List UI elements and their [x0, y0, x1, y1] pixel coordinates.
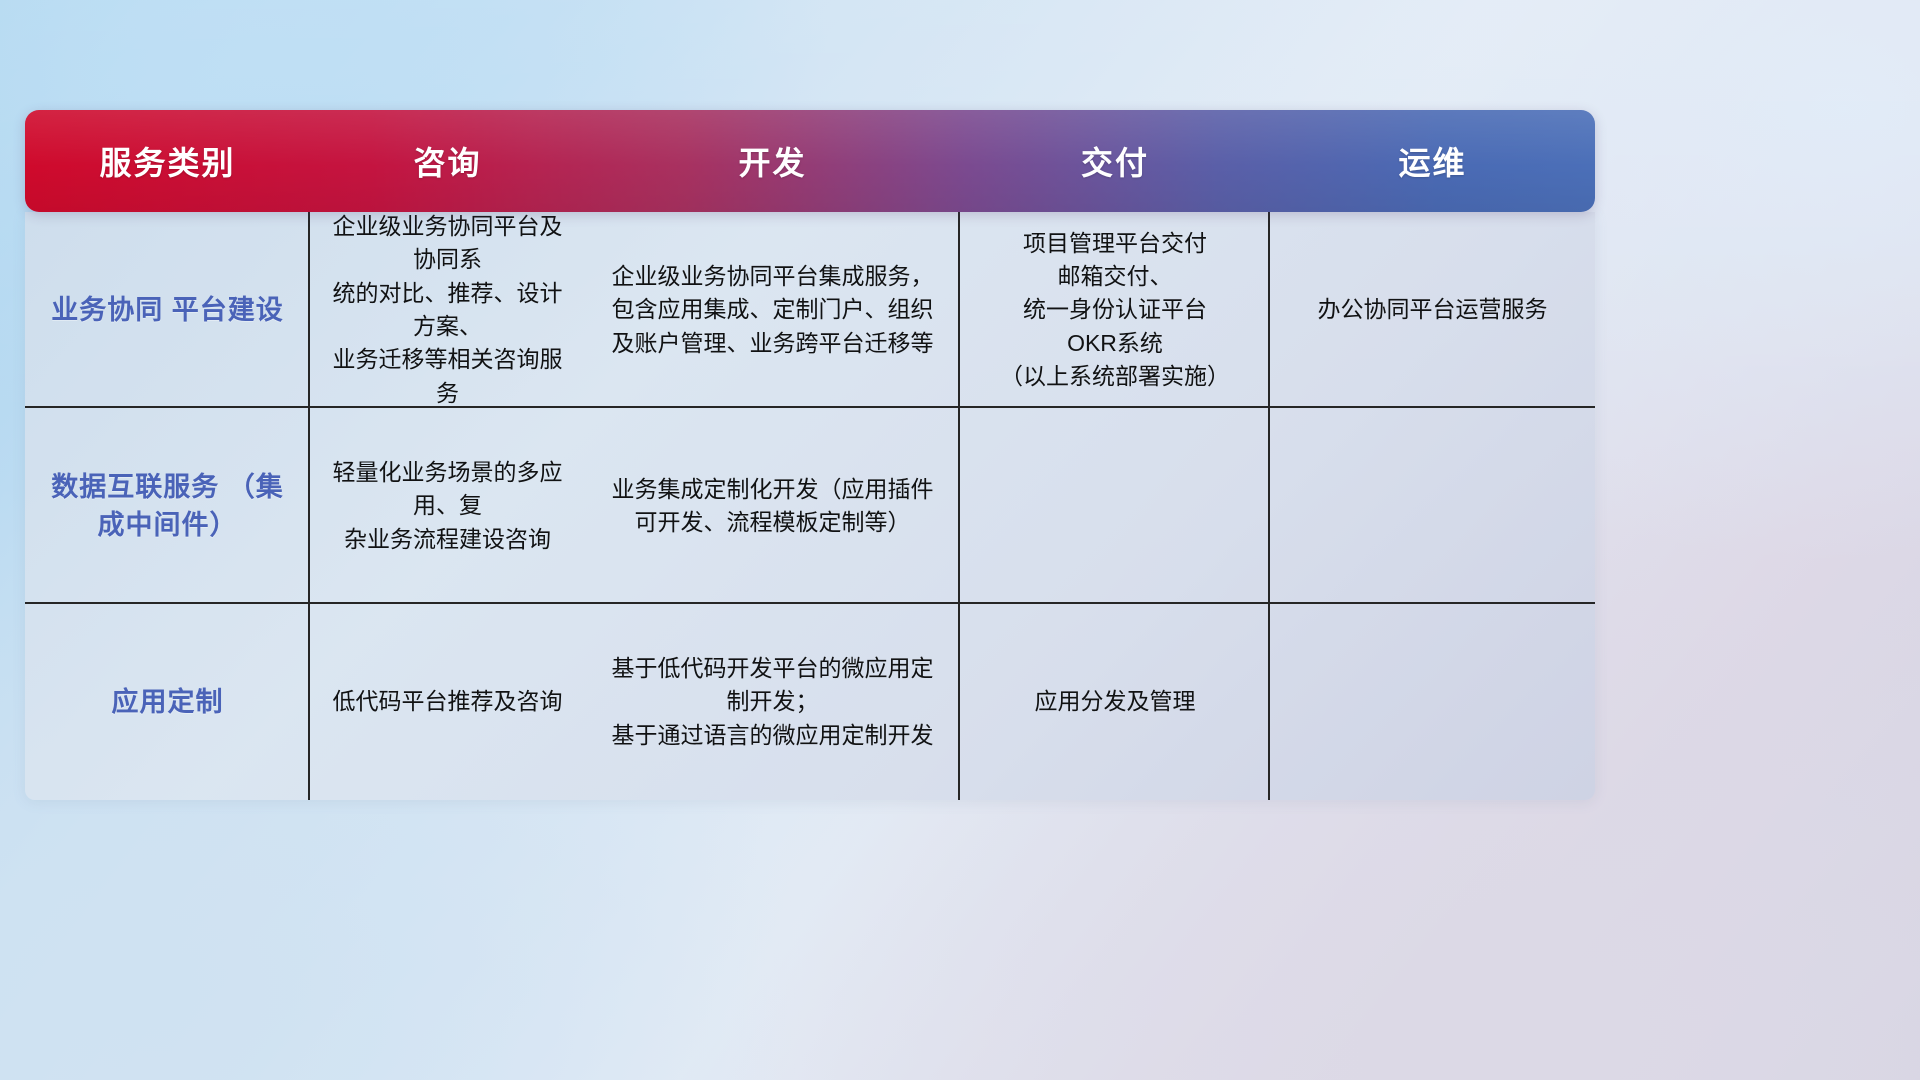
cell-operations — [1270, 408, 1595, 604]
table-row: 业务协同 平台建设 企业级业务协同平台及协同系 统的对比、推荐、设计方案、 业务… — [25, 212, 1595, 408]
row-header-cell: 应用定制 — [25, 604, 310, 800]
table-row: 数据互联服务 （集成中间件） 轻量化业务场景的多应用、复 杂业务流程建设咨询 业… — [25, 408, 1595, 604]
row-label: 业务协同 平台建设 — [51, 291, 284, 329]
row-label: 应用定制 — [112, 683, 224, 721]
column-header-consulting: 咨询 — [310, 138, 585, 184]
cell-text: 基于低代码开发平台的微应用定 制开发； 基于通过语言的微应用定制开发 — [612, 652, 934, 752]
column-header-category: 服务类别 — [25, 138, 310, 184]
cell-text: 应用分发及管理 — [1035, 685, 1196, 718]
row-header-cell: 数据互联服务 （集成中间件） — [25, 408, 310, 604]
cell-text: 项目管理平台交付 邮箱交付、 统一身份认证平台 OKR系统 （以上系统部署实施） — [1000, 227, 1230, 394]
cell-delivery: 应用分发及管理 — [960, 604, 1270, 800]
cell-consulting: 低代码平台推荐及咨询 — [310, 604, 585, 800]
cell-development: 业务集成定制化开发（应用插件 可开发、流程模板定制等） — [585, 408, 960, 604]
cell-text: 企业级业务协同平台集成服务， 包含应用集成、定制门户、组织 及账户管理、业务跨平… — [612, 260, 934, 360]
cell-development: 基于低代码开发平台的微应用定 制开发； 基于通过语言的微应用定制开发 — [585, 604, 960, 800]
table-row: 应用定制 低代码平台推荐及咨询 基于低代码开发平台的微应用定 制开发； 基于通过… — [25, 604, 1595, 800]
cell-operations: 办公协同平台运营服务 — [1270, 212, 1595, 408]
cell-text: 业务集成定制化开发（应用插件 可开发、流程模板定制等） — [612, 473, 934, 540]
cell-text: 办公协同平台运营服务 — [1318, 293, 1548, 326]
table-header-row: 服务类别 咨询 开发 交付 运维 — [25, 110, 1595, 212]
column-header-delivery: 交付 — [960, 138, 1270, 184]
cell-text: 轻量化业务场景的多应用、复 杂业务流程建设咨询 — [324, 456, 571, 556]
cell-development: 企业级业务协同平台集成服务， 包含应用集成、定制门户、组织 及账户管理、业务跨平… — [585, 212, 960, 408]
cell-text: 低代码平台推荐及咨询 — [333, 685, 563, 718]
cell-operations — [1270, 604, 1595, 800]
column-header-development: 开发 — [585, 138, 960, 184]
column-header-operations: 运维 — [1270, 138, 1595, 184]
row-label: 数据互联服务 （集成中间件） — [39, 468, 296, 545]
row-header-cell: 业务协同 平台建设 — [25, 212, 310, 408]
table-body-panel: 业务协同 平台建设 企业级业务协同平台及协同系 统的对比、推荐、设计方案、 业务… — [25, 212, 1595, 800]
cell-delivery: 项目管理平台交付 邮箱交付、 统一身份认证平台 OKR系统 （以上系统部署实施） — [960, 212, 1270, 408]
cell-delivery — [960, 408, 1270, 604]
service-matrix-table: 业务协同 平台建设 企业级业务协同平台及协同系 统的对比、推荐、设计方案、 业务… — [25, 110, 1595, 800]
cell-consulting: 企业级业务协同平台及协同系 统的对比、推荐、设计方案、 业务迁移等相关咨询服务 — [310, 212, 585, 408]
cell-text: 企业级业务协同平台及协同系 统的对比、推荐、设计方案、 业务迁移等相关咨询服务 — [324, 210, 571, 410]
cell-consulting: 轻量化业务场景的多应用、复 杂业务流程建设咨询 — [310, 408, 585, 604]
